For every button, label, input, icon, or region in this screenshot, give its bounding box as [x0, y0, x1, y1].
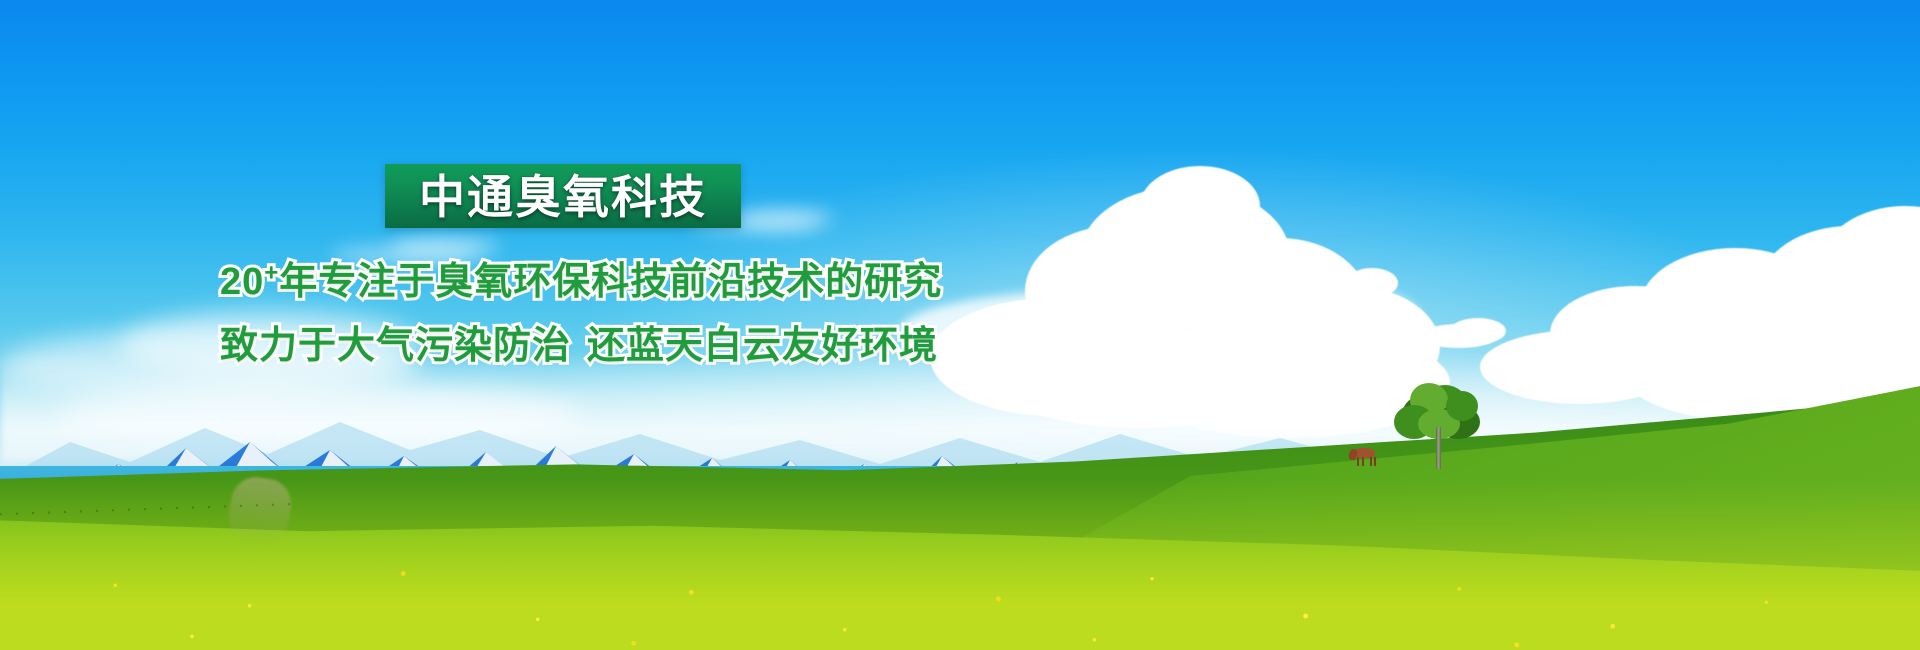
hero-copy: 中通臭氧科技 20+年专注于臭氧环保科技前沿技术的研究 致力于大气污染防治还蓝天…: [0, 0, 1920, 650]
tagline-years-number: 20: [220, 261, 264, 303]
tagline-line-1-text: 年专注于臭氧环保科技前沿技术的研究: [279, 261, 942, 303]
tagline-line-1: 20+年专注于臭氧环保科技前沿技术的研究: [220, 263, 942, 301]
brand-name-banner: 中通臭氧科技: [385, 164, 741, 228]
tagline-plus-superscript: +: [264, 259, 279, 286]
tagline-line-2: 致力于大气污染防治还蓝天白云友好环境: [220, 327, 938, 365]
hero-banner: 中通臭氧科技 20+年专注于臭氧环保科技前沿技术的研究 致力于大气污染防治还蓝天…: [0, 0, 1920, 650]
brand-name-text: 中通臭氧科技: [419, 174, 707, 220]
tagline-line-2-part-a: 致力于大气污染防治: [220, 325, 571, 367]
tagline-line-2-part-b: 还蓝天白云友好环境: [587, 325, 938, 367]
